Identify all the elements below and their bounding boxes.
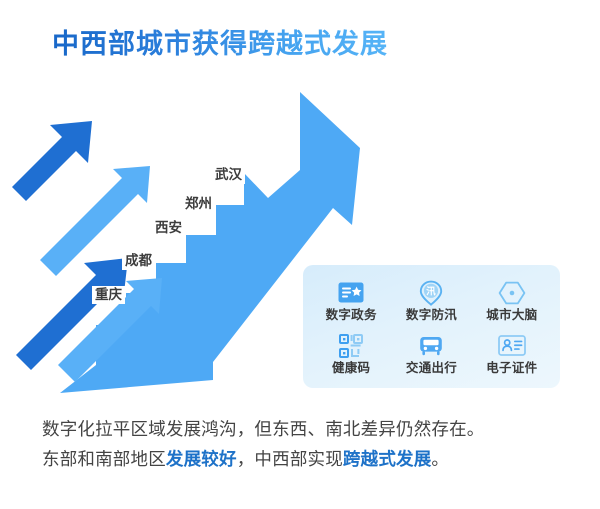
service-icon-panel: 数字政务 汛 数字防汛 城市大脑 <box>303 265 560 388</box>
service-item-transit[interactable]: 交通出行 <box>391 327 471 380</box>
caption-line1-text: 数字化拉平区域发展鸿沟，但东西、南北差异仍然存在。 <box>42 419 485 439</box>
page-title: 中西部城市获得跨越式发展 <box>52 22 388 61</box>
service-item-health-code[interactable]: 健康码 <box>311 327 391 380</box>
caption-line-1: 数字化拉平区域发展鸿沟，但东西、南北差异仍然存在。 <box>42 414 562 444</box>
service-label: 城市大脑 <box>486 308 537 322</box>
city-brain-hexagon-icon <box>497 280 527 306</box>
service-label: 交通出行 <box>406 361 457 375</box>
service-item-city-brain[interactable]: 城市大脑 <box>472 274 552 327</box>
step-label-chengdu: 成都 <box>122 252 155 270</box>
caption-line-2: 东部和南部地区发展较好，中西部实现跨越式发展。 <box>42 444 562 474</box>
electronic-id-card-icon <box>497 333 527 359</box>
svg-text:汛: 汛 <box>427 285 437 296</box>
caption-line2-text-b: ，中西部实现 <box>237 449 343 469</box>
summary-caption: 数字化拉平区域发展鸿沟，但东西、南北差异仍然存在。 东部和南部地区发展较好，中西… <box>42 414 562 474</box>
service-item-flood-control[interactable]: 汛 数字防汛 <box>391 274 471 327</box>
service-label: 健康码 <box>332 361 370 375</box>
caption-highlight-2: 跨越式发展 <box>343 449 432 469</box>
step-label-wuhan: 武汉 <box>212 166 245 184</box>
caption-highlight-1: 发展较好 <box>166 449 237 469</box>
infographic-page: 中西部城市获得跨越式发展 重庆 成都 西安 郑州 武汉 <box>0 0 600 509</box>
service-label: 电子证件 <box>486 361 537 375</box>
health-qr-code-icon <box>336 333 366 359</box>
service-item-digital-government[interactable]: 数字政务 <box>311 274 391 327</box>
step-label-zhengzhou: 郑州 <box>182 195 215 213</box>
service-label: 数字政务 <box>326 308 377 322</box>
digital-government-icon <box>336 280 366 306</box>
service-item-electronic-id[interactable]: 电子证件 <box>472 327 552 380</box>
arrow-dark-upper <box>12 121 92 201</box>
flood-control-pin-icon: 汛 <box>416 280 446 306</box>
caption-line2-text-a: 东部和南部地区 <box>42 449 166 469</box>
step-label-xian: 西安 <box>152 219 185 237</box>
service-label: 数字防汛 <box>406 308 457 322</box>
bus-transit-icon <box>416 333 446 359</box>
caption-line2-text-c: 。 <box>431 449 449 469</box>
step-label-chongqing: 重庆 <box>92 286 125 304</box>
